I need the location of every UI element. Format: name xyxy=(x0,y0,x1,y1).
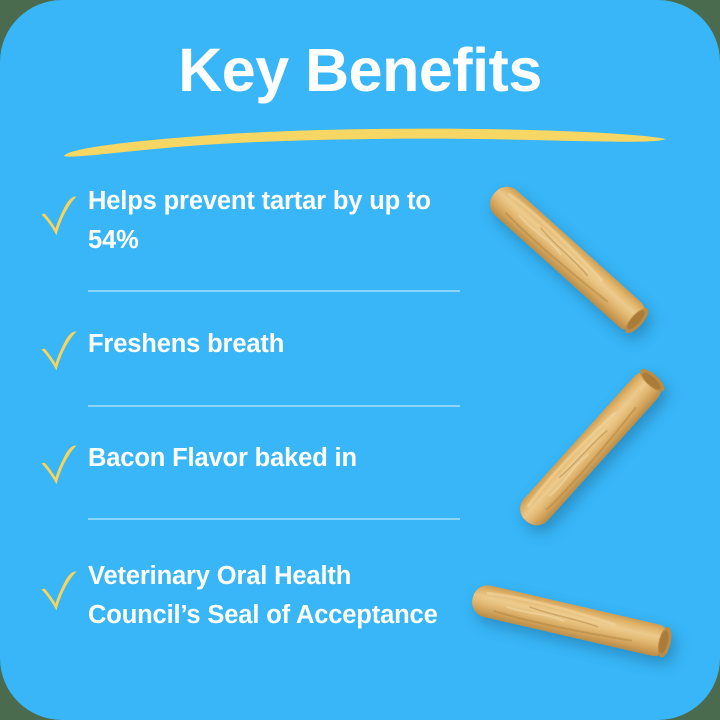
check-cell xyxy=(30,439,88,488)
benefit-label: Helps prevent tartar by up to 54% xyxy=(88,182,470,260)
benefit-divider xyxy=(88,290,460,292)
check-cell xyxy=(30,182,88,239)
benefits-list: Helps prevent tartar by up to 54% Freshe… xyxy=(0,176,470,635)
benefit-label: Bacon Flavor baked in xyxy=(88,439,357,478)
benefit-label: Freshens breath xyxy=(88,325,284,364)
check-cell xyxy=(30,325,88,374)
dental-chew-stick-image xyxy=(462,552,692,692)
dental-chew-stick-image xyxy=(490,348,690,548)
benefit-divider xyxy=(88,518,460,520)
benefit-item-vohc-seal: Veterinary Oral Health Council’s Seal of… xyxy=(0,557,470,635)
benefit-divider xyxy=(88,405,460,407)
check-icon xyxy=(38,568,80,614)
benefit-label: Veterinary Oral Health Council’s Seal of… xyxy=(88,557,470,635)
header: Key Benefits xyxy=(0,34,720,106)
promo-graphic-stage: Key Benefits Helps prevent tartar by up … xyxy=(0,0,720,720)
check-icon xyxy=(38,193,80,239)
page-title: Key Benefits xyxy=(0,34,720,106)
key-benefits-card: Key Benefits Helps prevent tartar by up … xyxy=(0,0,720,720)
check-icon xyxy=(38,328,80,374)
benefit-item-breath: Freshens breath xyxy=(0,325,470,374)
check-icon xyxy=(38,442,80,488)
swoosh-underline-icon xyxy=(60,118,670,160)
dental-chew-stick-image xyxy=(468,158,668,358)
benefit-item-tartar: Helps prevent tartar by up to 54% xyxy=(0,182,470,260)
check-cell xyxy=(30,557,88,614)
benefit-item-bacon: Bacon Flavor baked in xyxy=(0,439,470,488)
